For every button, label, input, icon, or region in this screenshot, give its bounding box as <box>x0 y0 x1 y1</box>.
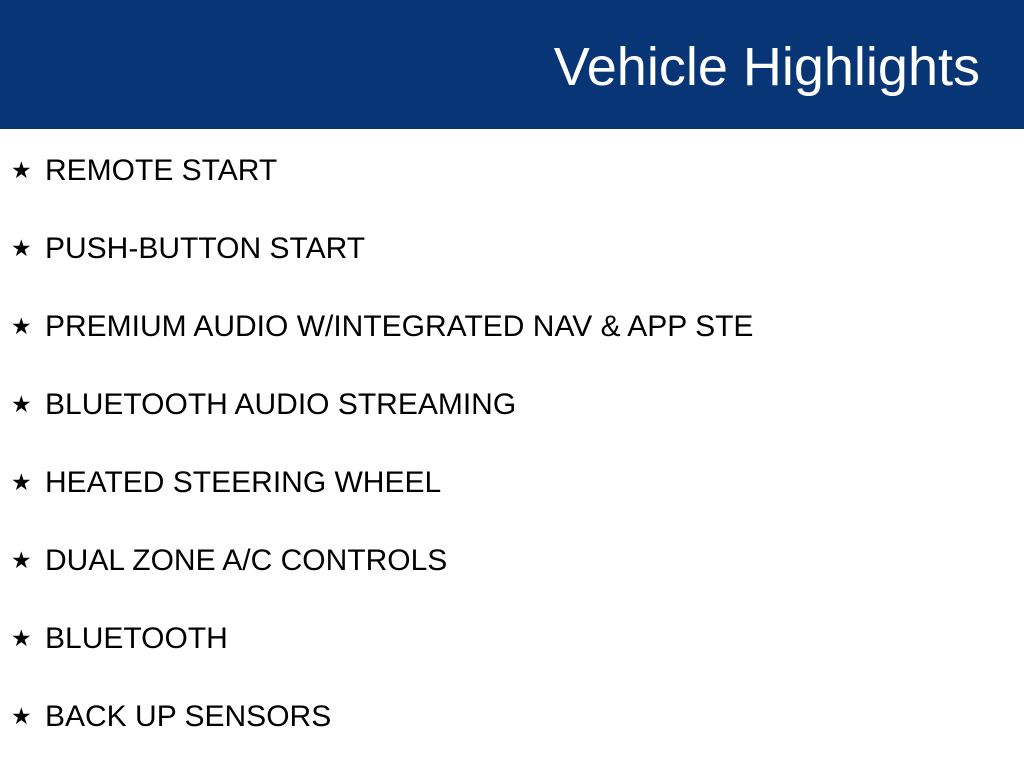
star-bullet-icon: ★ <box>11 706 45 729</box>
list-item: ★ BACK UP SENSORS <box>0 702 1024 780</box>
star-bullet-icon: ★ <box>11 316 45 339</box>
list-item: ★ REMOTE START <box>0 129 1024 234</box>
highlight-label: BLUETOOTH AUDIO STREAMING <box>45 390 516 420</box>
star-bullet-icon: ★ <box>11 394 45 417</box>
highlight-label: PREMIUM AUDIO W/INTEGRATED NAV & APP STE <box>45 312 753 342</box>
highlight-label: HEATED STEERING WHEEL <box>45 468 441 498</box>
star-bullet-icon: ★ <box>11 472 45 495</box>
list-item: ★ HEATED STEERING WHEEL <box>0 468 1024 546</box>
page-title: Vehicle Highlights <box>554 40 980 94</box>
list-item: ★ BLUETOOTH <box>0 624 1024 702</box>
list-item: ★ PUSH-BUTTON START <box>0 234 1024 312</box>
highlight-label: DUAL ZONE A/C CONTROLS <box>45 546 447 576</box>
star-bullet-icon: ★ <box>11 160 45 183</box>
vehicle-highlights-list: ★ REMOTE START ★ PUSH-BUTTON START ★ PRE… <box>0 129 1024 780</box>
vehicle-highlights-slide: Vehicle Highlights ★ REMOTE START ★ PUSH… <box>0 0 1024 768</box>
star-bullet-icon: ★ <box>11 238 45 261</box>
highlight-label: REMOTE START <box>45 156 277 186</box>
highlight-label: PUSH-BUTTON START <box>45 234 365 264</box>
header-banner: Vehicle Highlights <box>0 0 1024 129</box>
list-item: ★ DUAL ZONE A/C CONTROLS <box>0 546 1024 624</box>
list-item: ★ BLUETOOTH AUDIO STREAMING <box>0 390 1024 468</box>
highlight-label: BLUETOOTH <box>45 624 228 654</box>
highlight-label: BACK UP SENSORS <box>45 702 331 732</box>
star-bullet-icon: ★ <box>11 550 45 573</box>
star-bullet-icon: ★ <box>11 628 45 651</box>
list-item: ★ PREMIUM AUDIO W/INTEGRATED NAV & APP S… <box>0 312 1024 390</box>
